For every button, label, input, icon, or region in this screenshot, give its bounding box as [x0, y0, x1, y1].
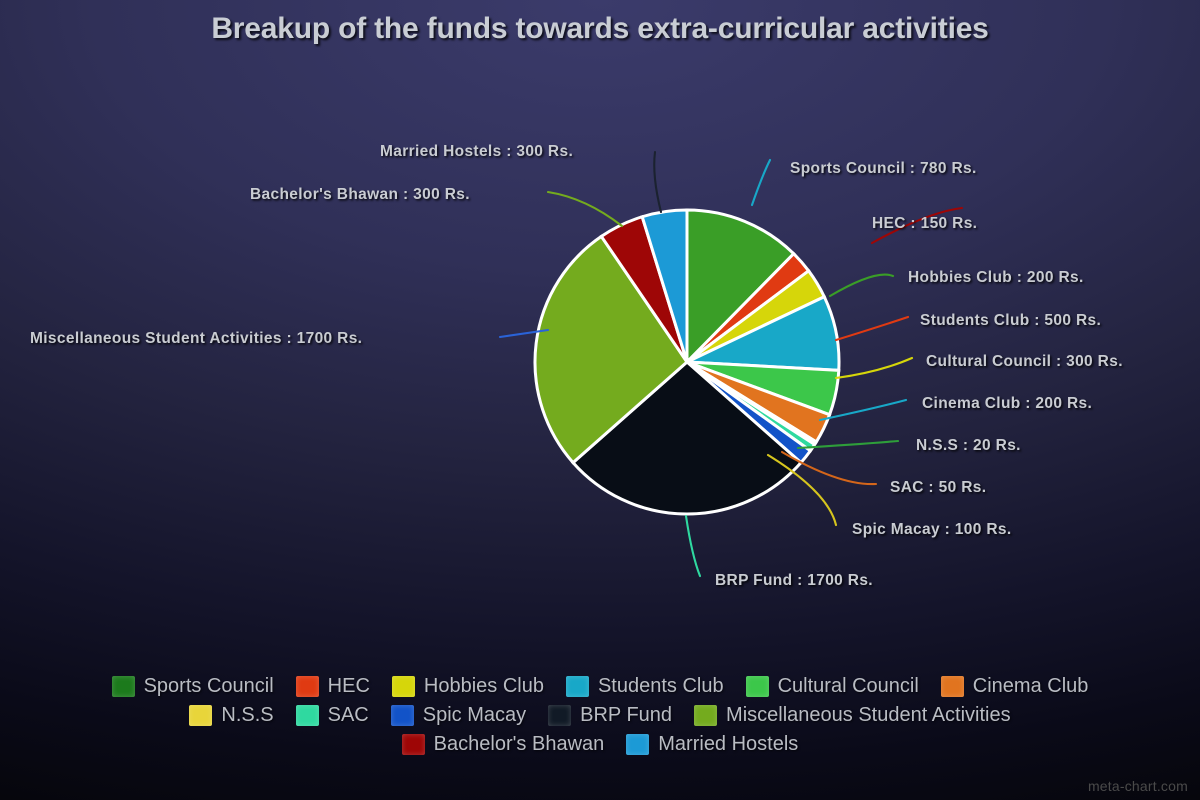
legend-item-label: Students Club [598, 676, 724, 696]
legend-item-label: Married Hostels [658, 734, 798, 754]
pie-callout-label: Bachelor's Bhawan : 300 Rs. [250, 186, 470, 204]
pie-callout-label: BRP Fund : 1700 Rs. [715, 572, 873, 590]
pie-callout-label: Hobbies Club : 200 Rs. [908, 269, 1084, 287]
pie-callout-label: Married Hostels : 300 Rs. [380, 143, 573, 161]
pie-callout-label: Students Club : 500 Rs. [920, 312, 1101, 330]
legend-item-label: Bachelor's Bhawan [434, 734, 605, 754]
legend-item-label: Hobbies Club [424, 676, 544, 696]
legend-item[interactable]: N.S.S [189, 701, 273, 729]
legend-item[interactable]: Miscellaneous Student Activities [694, 701, 1011, 729]
legend-item-label: BRP Fund [580, 705, 672, 725]
legend-swatch-icon [112, 676, 135, 697]
legend-item[interactable]: SAC [296, 701, 369, 729]
legend-swatch-icon [694, 705, 717, 726]
legend-item[interactable]: Cinema Club [941, 672, 1089, 700]
pie-callout-label: Miscellaneous Student Activities : 1700 … [30, 330, 362, 348]
legend-item[interactable]: Sports Council [112, 672, 274, 700]
legend-item[interactable]: Married Hostels [626, 730, 798, 758]
legend-item-label: Spic Macay [423, 705, 526, 725]
legend-item-label: Sports Council [144, 676, 274, 696]
legend-item-label: Miscellaneous Student Activities [726, 705, 1011, 725]
leader-line [548, 192, 622, 226]
legend-item-label: Cultural Council [778, 676, 919, 696]
legend-item[interactable]: Hobbies Club [392, 672, 544, 700]
leader-line [836, 358, 912, 378]
legend-item[interactable]: BRP Fund [548, 701, 672, 729]
chart-legend: Sports CouncilHECHobbies ClubStudents Cl… [0, 672, 1200, 758]
leader-line [654, 152, 661, 212]
pie-callout-label: N.S.S : 20 Rs. [916, 437, 1021, 455]
pie-callout-label: Spic Macay : 100 Rs. [852, 521, 1012, 539]
legend-item[interactable]: Students Club [566, 672, 724, 700]
legend-swatch-icon [626, 734, 649, 755]
legend-swatch-icon [941, 676, 964, 697]
pie-callout-label: Sports Council : 780 Rs. [790, 160, 977, 178]
legend-item-label: N.S.S [221, 705, 273, 725]
pie-callout-label: HEC : 150 Rs. [872, 215, 977, 233]
legend-item[interactable]: Cultural Council [746, 672, 919, 700]
legend-item[interactable]: HEC [296, 672, 370, 700]
pie-slices [535, 210, 839, 514]
leader-line [752, 160, 770, 205]
legend-item[interactable]: Spic Macay [391, 701, 526, 729]
legend-swatch-icon [566, 676, 589, 697]
legend-swatch-icon [296, 705, 319, 726]
pie-callout-label: Cultural Council : 300 Rs. [926, 353, 1123, 371]
legend-swatch-icon [391, 705, 414, 726]
leader-line [686, 516, 700, 576]
legend-item-label: SAC [328, 705, 369, 725]
pie-callout-label: SAC : 50 Rs. [890, 479, 986, 497]
watermark: meta-chart.com [1088, 778, 1188, 794]
legend-swatch-icon [189, 705, 212, 726]
legend-swatch-icon [402, 734, 425, 755]
legend-item-label: Cinema Club [973, 676, 1089, 696]
leader-line [830, 275, 893, 296]
leader-line [836, 317, 908, 340]
legend-swatch-icon [548, 705, 571, 726]
legend-swatch-icon [746, 676, 769, 697]
pie-callout-label: Cinema Club : 200 Rs. [922, 395, 1092, 413]
legend-item[interactable]: Bachelor's Bhawan [402, 730, 605, 758]
legend-swatch-icon [392, 676, 415, 697]
legend-item-label: HEC [328, 676, 370, 696]
chart-canvas: Breakup of the funds towards extra-curri… [0, 0, 1200, 800]
legend-swatch-icon [296, 676, 319, 697]
